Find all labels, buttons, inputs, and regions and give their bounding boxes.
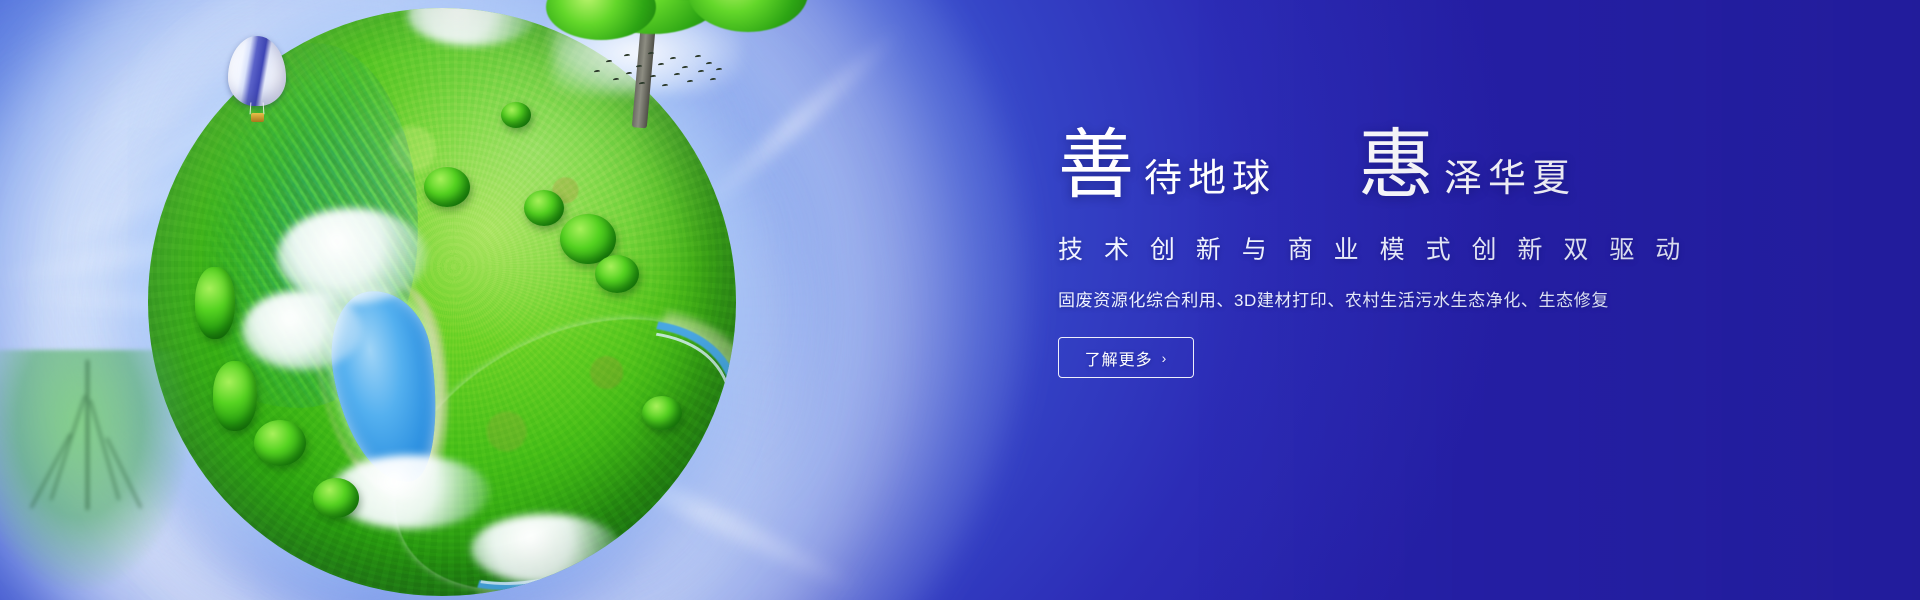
bush [424, 167, 470, 207]
learn-more-label: 了解更多 [1085, 346, 1153, 370]
headline: 善 待地球 惠 泽华夏 [1058, 128, 1758, 204]
headline-big-1: 善 [1058, 128, 1134, 204]
headline-group-1: 善 待地球 [1058, 128, 1276, 204]
surface-cloud [407, 8, 537, 46]
headline-group-2: 惠 泽华夏 [1358, 128, 1576, 204]
chevron-right-icon: › [1162, 351, 1168, 365]
headline-small-2: 泽华夏 [1444, 160, 1576, 204]
balloon-envelope [228, 36, 286, 106]
lake-shore [304, 264, 468, 511]
learn-more-button[interactable]: 了解更多 › [1058, 337, 1194, 378]
surface-cloud [330, 455, 490, 529]
bush [595, 255, 639, 293]
foreground-tree-silhouette [0, 350, 190, 590]
surface-cloud [277, 208, 427, 304]
subtitle: 技 术 创 新 与 商 业 模 式 创 新 双 驱 动 [1058, 230, 1758, 266]
bush [524, 190, 564, 226]
bush [254, 420, 306, 466]
bush [213, 361, 257, 431]
bush [313, 478, 359, 518]
river-bank [333, 247, 736, 596]
hero-banner: 善 待地球 惠 泽华夏 技 术 创 新 与 商 业 模 式 创 新 双 驱 动 … [0, 0, 1920, 600]
lake [322, 284, 451, 491]
bush [560, 214, 616, 264]
bird-flock [592, 48, 722, 94]
surface-cloud [471, 514, 621, 584]
bush [642, 396, 682, 430]
bush [195, 267, 235, 339]
description: 固废资源化综合利用、3D建材打印、农村生活污水生态净化、生态修复 [1058, 286, 1758, 311]
bush [501, 102, 531, 128]
balloon-basket [251, 113, 264, 122]
headline-big-2: 惠 [1358, 128, 1434, 204]
headline-small-1: 待地球 [1144, 160, 1276, 204]
surface-cloud [242, 290, 362, 370]
hot-air-balloon [228, 36, 286, 122]
hero-copy: 善 待地球 惠 泽华夏 技 术 创 新 与 商 业 模 式 创 新 双 驱 动 … [1058, 128, 1758, 378]
